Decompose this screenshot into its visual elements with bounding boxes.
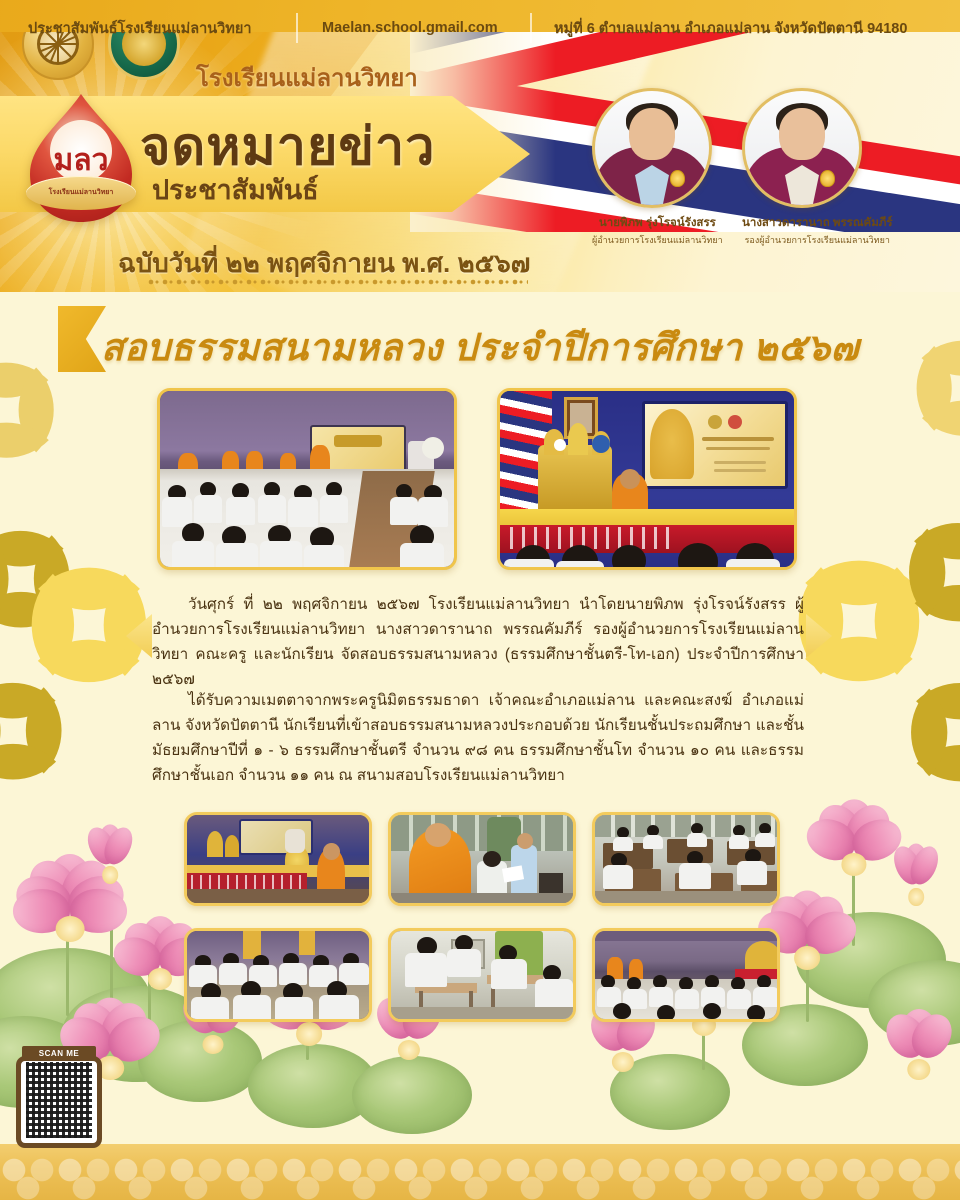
photo-students-seated <box>184 928 372 1022</box>
article-paragraph-1: วันศุกร์ ที่ ๒๒ พฤศจิกายน ๒๕๖๗ โรงเรียนแ… <box>152 592 804 692</box>
footer-contact-page: ประชาสัมพันธ์โรงเรียนแม่ลานวิทยา <box>28 0 251 56</box>
photo-assembly-hall <box>157 388 457 570</box>
avatar <box>592 88 712 208</box>
diamond-divider <box>148 276 528 288</box>
crest-band-label: โรงเรียนแม่ลานวิทยา <box>26 176 136 210</box>
footer-contact-email[interactable]: Maelan.school.gmail.com <box>322 0 498 56</box>
footer-divider <box>530 13 532 43</box>
wave-pattern <box>0 1144 960 1200</box>
footer-divider <box>296 13 298 43</box>
paragraph-text: วันศุกร์ ที่ ๒๒ พฤศจิกายน ๒๕๖๗ โรงเรียนแ… <box>152 596 804 688</box>
photo-hall-wide <box>592 928 780 1022</box>
photo-opening-stage <box>184 812 372 906</box>
photo-monk-inspecting <box>388 812 576 906</box>
photo-exam-room-2 <box>388 928 576 1022</box>
scan-me-label: SCAN ME <box>22 1046 96 1060</box>
photo-monk-ceremony <box>497 388 797 570</box>
qr-code[interactable] <box>16 1056 102 1148</box>
portrait-name: นางสาวดารานาถ พรรณคัมภีร์ <box>742 214 893 232</box>
article-paragraph-2: ได้รับความเมตตาจากพระครูนิมิตธรรมธาดา เจ… <box>152 688 804 788</box>
school-name: โรงเรียนแม่ลานวิทยา <box>196 58 418 97</box>
photo-exam-room-1 <box>592 812 780 906</box>
newsletter-page: มลว โรงเรียนแม่ลานวิทยา สำนักงานเขตพื้นท… <box>0 0 960 1200</box>
footer-contact-address: หมู่ที่ 6 ตำบลแม่ลาน อำเภอแม่ลาน จังหวัด… <box>554 0 907 56</box>
portrait-deputy-director: นางสาวดารานาถ พรรณคัมภีร์ รองผู้อำนวยการ… <box>742 88 893 247</box>
portrait-director: นายพิภพ รุ่งโรจน์รังสรร ผู้อำนวยการโรงเร… <box>592 88 723 247</box>
newsletter-footer <box>0 1144 960 1200</box>
article-title: สอบธรรมสนามหลวง ประจำปีการศึกษา ๒๕๖๗ <box>0 318 960 377</box>
maelan-school-crest-icon: มลว โรงเรียนแม่ลานวิทยา <box>22 92 140 224</box>
qr-code-pattern <box>26 1062 92 1138</box>
avatar <box>742 88 862 208</box>
portrait-role: รองผู้อำนวยการโรงเรียนแม่ลานวิทยา <box>742 233 893 247</box>
portrait-role: ผู้อำนวยการโรงเรียนแม่ลานวิทยา <box>592 233 723 247</box>
portrait-name: นายพิภพ รุ่งโรจน์รังสรร <box>592 214 723 232</box>
page-subtitle: ประชาสัมพันธ์ <box>152 168 319 211</box>
paragraph-text: ได้รับความเมตตาจากพระครูนิมิตธรรมธาดา เจ… <box>152 692 804 784</box>
